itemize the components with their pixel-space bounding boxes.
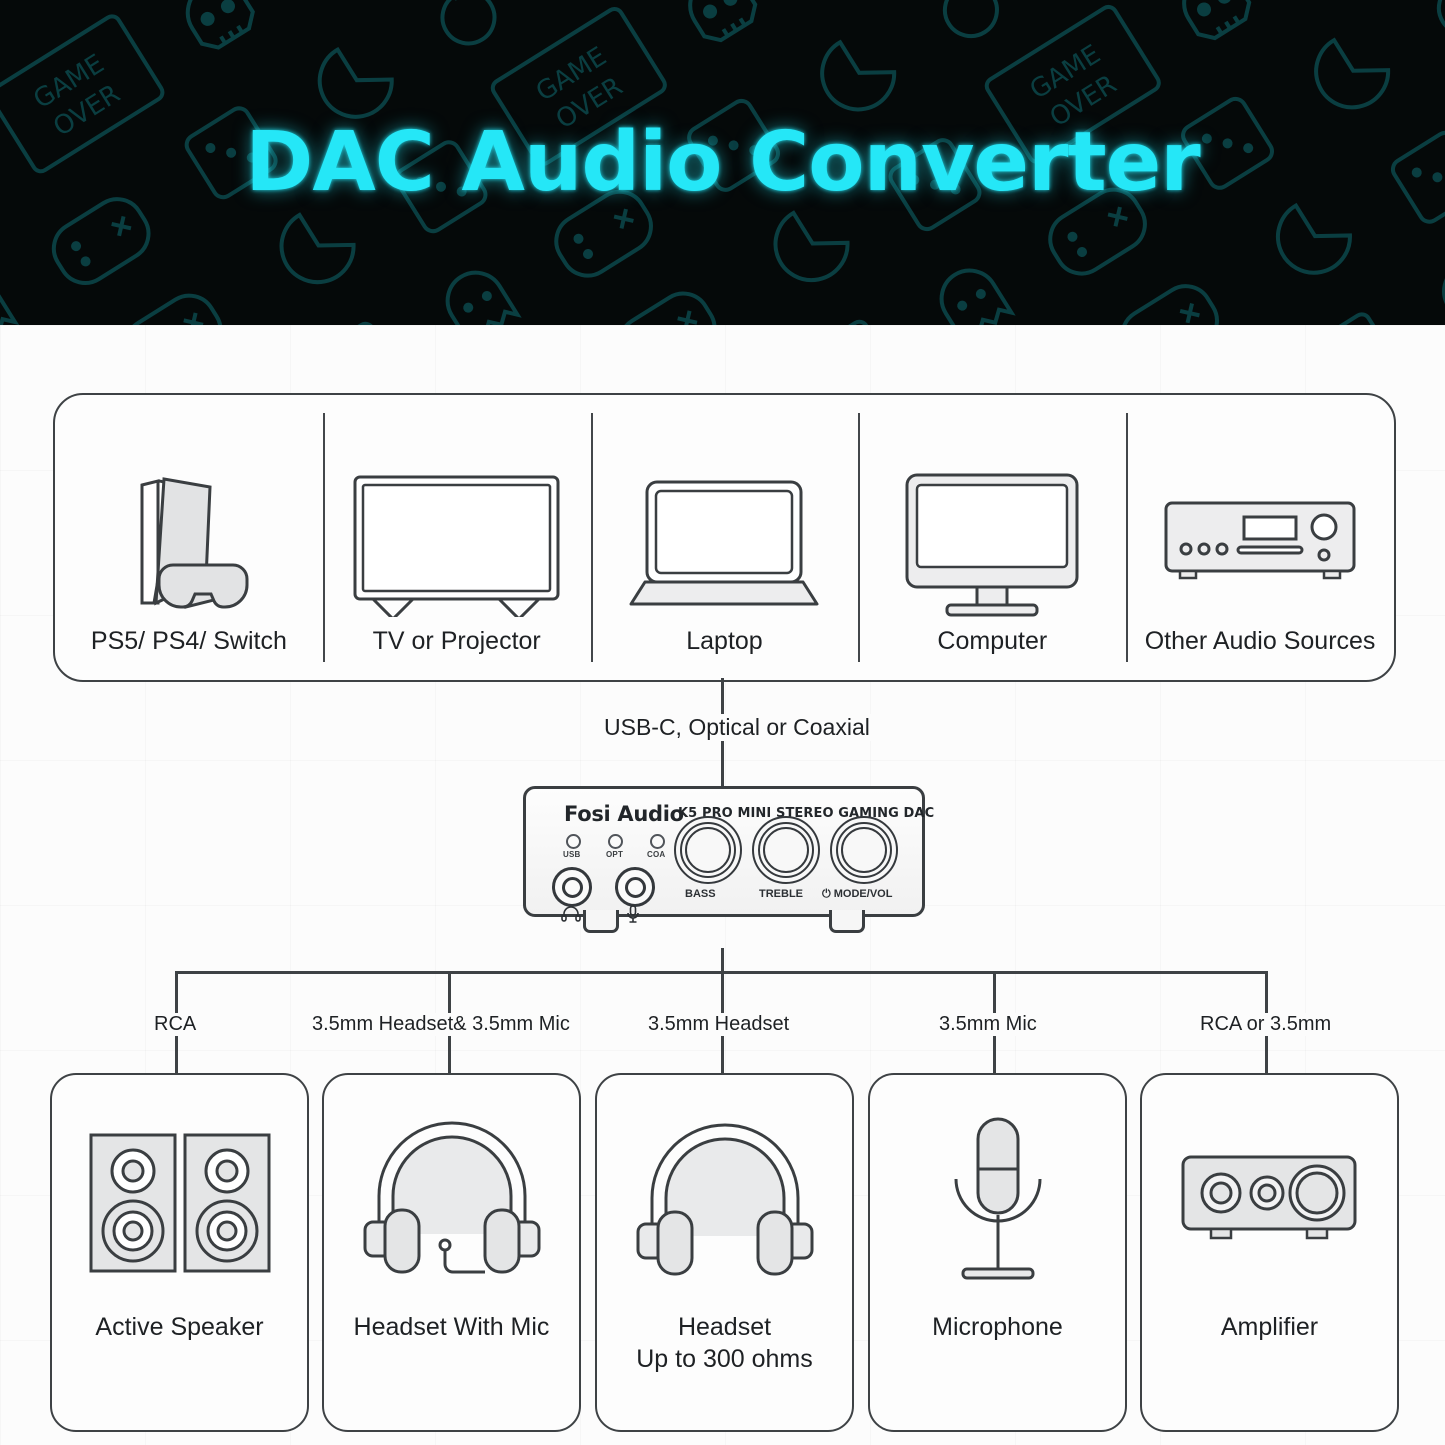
microphone-icon xyxy=(870,1103,1125,1303)
page-title: DAC Audio Converter xyxy=(0,0,1445,325)
output-connection-label-headset: 3.5mm Headset xyxy=(640,1013,797,1036)
headphones-icon xyxy=(597,1103,852,1303)
source-item-label: Laptop xyxy=(686,627,762,656)
source-item-label: PS5/ PS4/ Switch xyxy=(91,627,287,656)
av-receiver-icon xyxy=(1126,467,1394,617)
output-card-speaker: Active Speaker xyxy=(50,1073,309,1432)
treble-knob-label: TREBLE xyxy=(759,888,803,900)
source-item-laptop: Laptop xyxy=(591,395,859,680)
output-card-headset-mic: Headset With Mic xyxy=(322,1073,581,1432)
led-opt xyxy=(608,834,623,849)
output-connection-label-mic: 3.5mm Mic xyxy=(931,1013,1045,1036)
game-console-icon xyxy=(55,467,323,617)
headset-with-mic-icon xyxy=(324,1103,579,1303)
desktop-monitor-icon xyxy=(858,467,1126,617)
led-coa xyxy=(650,834,665,849)
source-item-console: PS5/ PS4/ Switch xyxy=(55,395,323,680)
output-connection-label-headset-mic: 3.5mm Headset& 3.5mm Mic xyxy=(304,1013,578,1036)
mode-vol-knob[interactable] xyxy=(830,816,898,884)
output-card-label: Active Speaker xyxy=(95,1311,263,1343)
led-usb xyxy=(566,834,581,849)
dac-foot-left xyxy=(583,910,619,933)
bass-knob[interactable] xyxy=(674,816,742,884)
source-item-label: TV or Projector xyxy=(373,627,541,656)
source-item-other: Other Audio Sources xyxy=(1126,395,1394,680)
dac-brand-label: Fosi Audio xyxy=(564,802,684,826)
input-connection-label: USB-C, Optical or Coaxial xyxy=(592,714,882,741)
microphone-icon-small xyxy=(626,905,640,923)
treble-knob[interactable] xyxy=(752,816,820,884)
output-card-label: Headset With Mic xyxy=(354,1311,550,1343)
output-card-label-line2: Up to 300 ohms xyxy=(636,1343,813,1375)
led-opt-label: OPT xyxy=(606,850,623,859)
dac-foot-right xyxy=(829,910,865,933)
output-card-headset: Headset Up to 300 ohms xyxy=(595,1073,854,1432)
dac-device: Fosi Audio K5 PRO MINI STEREO GAMING DAC… xyxy=(523,786,923,946)
mode-vol-knob-label: ⏻ MODE/VOL xyxy=(822,888,892,901)
headphone-jack[interactable] xyxy=(552,867,592,907)
output-card-amplifier: Amplifier xyxy=(1140,1073,1399,1432)
output-card-label: Microphone xyxy=(932,1311,1063,1343)
speaker-pair-icon xyxy=(52,1103,307,1303)
microphone-jack[interactable] xyxy=(615,867,655,907)
source-item-tv: TV or Projector xyxy=(323,395,591,680)
laptop-icon xyxy=(591,467,859,617)
television-icon xyxy=(323,467,591,617)
output-connection-label-rca: RCA xyxy=(146,1013,204,1036)
infographic-page: GAME OVER xyxy=(0,0,1445,1445)
source-item-label: Other Audio Sources xyxy=(1145,627,1376,656)
source-item-label: Computer xyxy=(937,627,1047,656)
source-item-computer: Computer xyxy=(858,395,1126,680)
output-card-label: Headset Up to 300 ohms xyxy=(636,1311,813,1375)
dac-output-stem xyxy=(721,948,724,972)
output-card-label-line1: Headset xyxy=(636,1311,813,1343)
led-coa-label: COA xyxy=(647,850,665,859)
headphone-icon xyxy=(561,906,581,922)
led-usb-label: USB xyxy=(563,850,581,859)
audio-sources-panel: PS5/ PS4/ Switch TV or Projector xyxy=(53,393,1396,682)
output-connection-label-amp: RCA or 3.5mm xyxy=(1192,1013,1339,1036)
bass-knob-label: BASS xyxy=(685,888,716,900)
output-card-label: Amplifier xyxy=(1221,1311,1318,1343)
amplifier-icon xyxy=(1142,1103,1397,1303)
output-card-microphone: Microphone xyxy=(868,1073,1127,1432)
header-banner: GAME OVER xyxy=(0,0,1445,325)
